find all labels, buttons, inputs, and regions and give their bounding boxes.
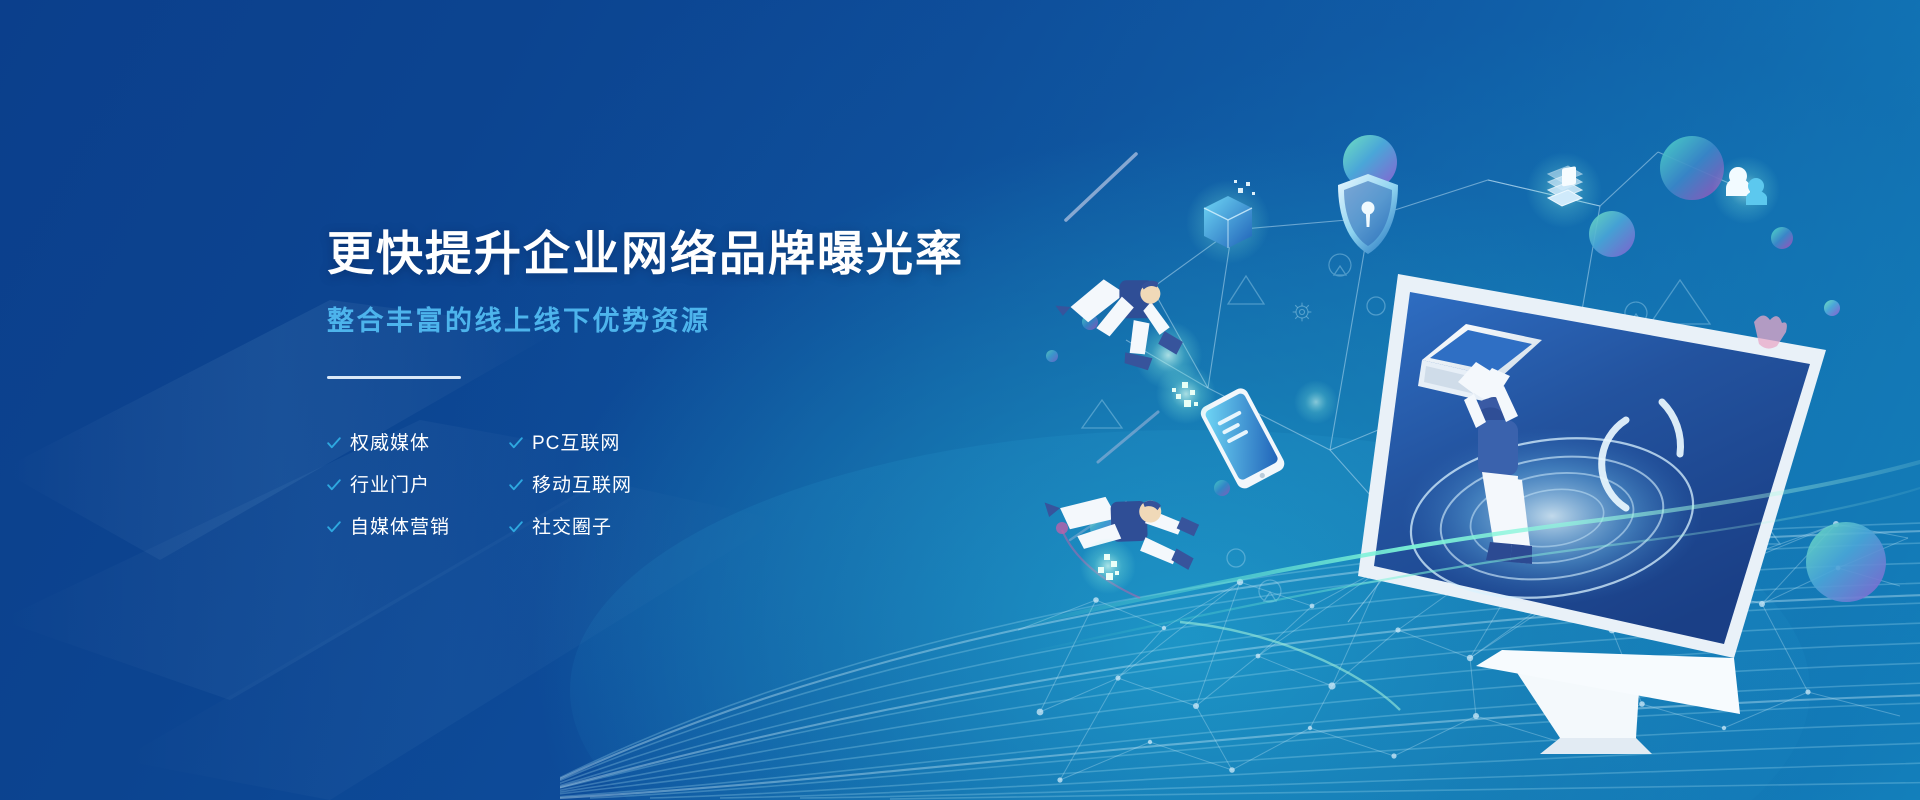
check-icon xyxy=(327,478,341,492)
banner-text-block: 更快提升企业网络品牌曝光率 整合丰富的线上线下优势资源 权威媒体 PC互联网 xyxy=(327,228,887,547)
list-item-label: 权威媒体 xyxy=(350,428,430,455)
cube-icon xyxy=(1186,180,1270,264)
list-item-label: 移动互联网 xyxy=(532,470,632,497)
stacked-cards-icon xyxy=(1526,152,1602,228)
list-item[interactable]: 社交圈子 xyxy=(509,505,887,547)
check-icon xyxy=(509,478,523,492)
desktop-monitor-icon xyxy=(1358,274,1826,754)
list-item[interactable]: PC互联网 xyxy=(509,421,887,463)
page-subtitle: 整合丰富的线上线下优势资源 xyxy=(327,299,887,338)
check-icon xyxy=(509,436,523,450)
list-item[interactable]: 行业门户 xyxy=(327,463,509,505)
shield-lock-icon xyxy=(1338,174,1398,254)
sparkle-cluster-icon xyxy=(1294,380,1338,424)
check-icon xyxy=(509,520,523,534)
list-item-label: 自媒体营销 xyxy=(350,512,450,539)
list-item-label: PC互联网 xyxy=(532,428,620,455)
list-item-label: 行业门户 xyxy=(350,470,430,497)
list-item-label: 社交圈子 xyxy=(532,512,612,539)
check-icon xyxy=(327,436,341,450)
list-item[interactable]: 自媒体营销 xyxy=(327,505,509,547)
check-icon xyxy=(327,520,341,534)
people-group-icon xyxy=(1712,156,1780,224)
list-item[interactable]: 权威媒体 xyxy=(327,421,509,463)
list-item[interactable]: 移动互联网 xyxy=(509,463,887,505)
feature-list: 权威媒体 PC互联网 行业门户 移动互联网 xyxy=(327,421,887,547)
lightning-sparkle-icon xyxy=(1080,538,1136,594)
page-title: 更快提升企业网络品牌曝光率 xyxy=(327,228,887,281)
tech-illustration xyxy=(1040,110,1920,710)
divider xyxy=(327,376,461,379)
hero-banner: 更快提升企业网络品牌曝光率 整合丰富的线上线下优势资源 权威媒体 PC互联网 xyxy=(0,0,1920,800)
